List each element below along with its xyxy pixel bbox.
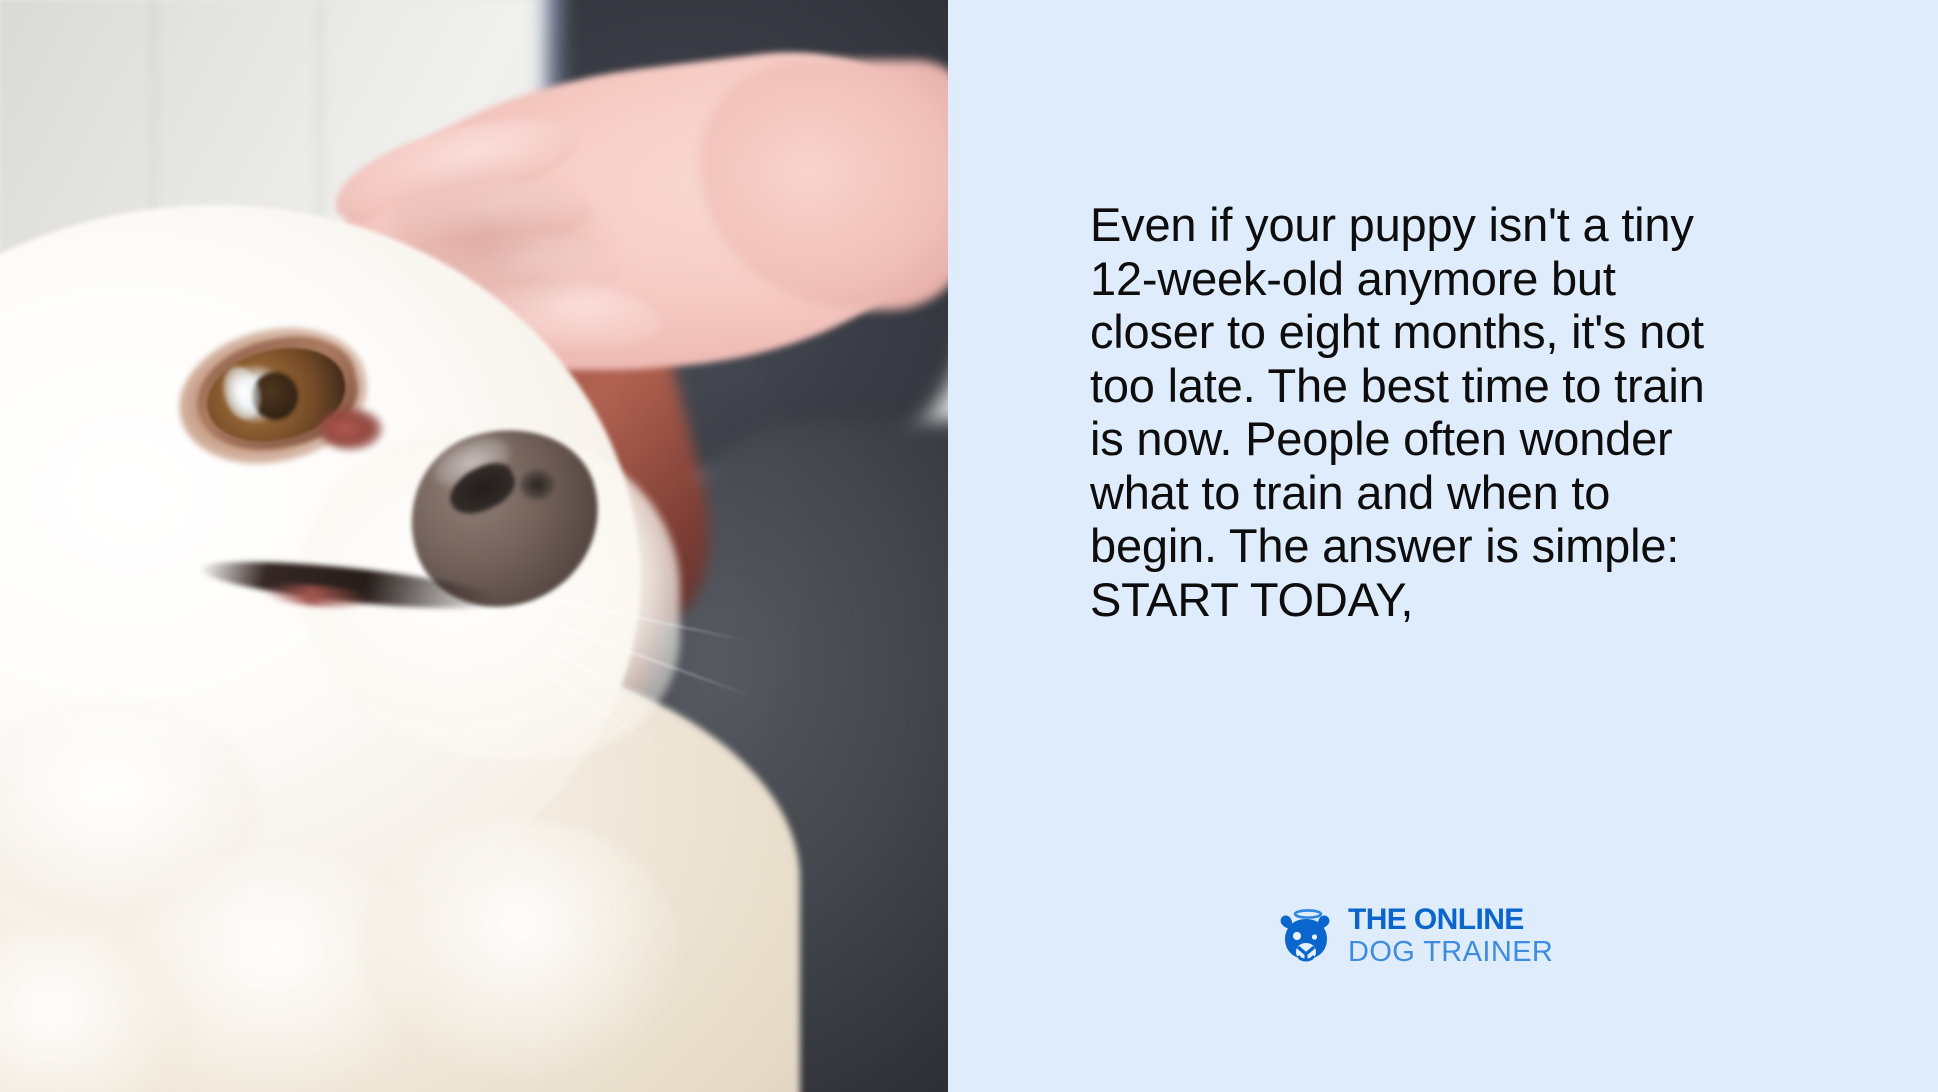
promo-card: Even if your puppy isn't a tiny 12-week-… — [0, 0, 1938, 1092]
photo-pane — [0, 0, 948, 1092]
text-pane: Even if your puppy isn't a tiny 12-week-… — [948, 0, 1938, 1092]
dog-fur-tuft — [360, 820, 680, 1080]
dog-eye-tear-stain — [320, 408, 382, 450]
brand-line-two: DOG TRAINER — [1348, 938, 1553, 967]
brand-line-one: THE ONLINE — [1348, 905, 1553, 935]
quote-text: Even if your puppy isn't a tiny 12-week-… — [1090, 198, 1820, 626]
dog-nostril — [520, 470, 554, 500]
brand-wordmark: THE ONLINE DOG TRAINER — [1348, 905, 1553, 967]
brand-logo[interactable]: THE ONLINE DOG TRAINER — [1275, 905, 1553, 967]
dog-head-with-halo-icon — [1275, 907, 1337, 965]
